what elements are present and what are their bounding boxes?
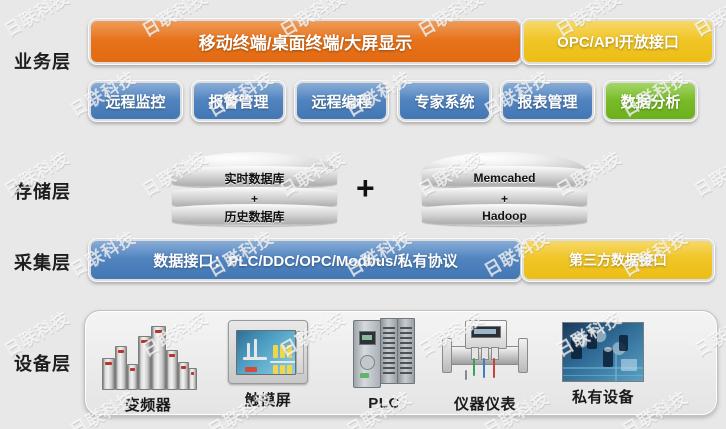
db-left-top-label: 实时数据库 bbox=[224, 170, 284, 187]
device-item-vfd[interactable]: 变频器 bbox=[92, 316, 204, 415]
storage-plus-operator: + bbox=[356, 172, 375, 204]
business-alarm-management-box[interactable]: 报警管理 bbox=[191, 80, 286, 122]
watermark-text: 日联科技 bbox=[0, 64, 1, 122]
collect-data-interface-box[interactable]: 数据接口：PLC/DDC/OPC/Modbus/私有协议 bbox=[88, 238, 523, 282]
db-right-band-top: Memcahed bbox=[422, 166, 587, 188]
device-item-plc[interactable]: PLC bbox=[336, 318, 432, 412]
device-item-hmi[interactable]: 触摸屏 bbox=[214, 320, 322, 410]
business-remote-programming-box[interactable]: 远程编程 bbox=[294, 80, 389, 122]
business-expert-system-box[interactable]: 专家系统 bbox=[397, 80, 492, 122]
db-right-top-label: Memcahed bbox=[473, 171, 535, 185]
business-report-management-label: 报表管理 bbox=[517, 91, 577, 112]
db-left-band-top: 实时数据库 bbox=[172, 166, 337, 188]
device-item-plc-label: PLC bbox=[336, 395, 432, 412]
watermark-text: 日联科技 bbox=[689, 144, 726, 202]
circuit-board-icon bbox=[562, 322, 644, 382]
flow-meter-icon bbox=[439, 320, 531, 390]
business-opc-api-label: OPC/API开放接口 bbox=[557, 31, 679, 52]
device-item-private[interactable]: 私有设备 bbox=[546, 322, 660, 407]
business-opc-api-box[interactable]: OPC/API开放接口 bbox=[521, 18, 715, 65]
business-data-analysis-label: 数据分析 bbox=[620, 91, 680, 112]
business-remote-monitor-label: 远程监控 bbox=[105, 91, 165, 112]
business-report-management-box[interactable]: 报表管理 bbox=[500, 80, 595, 122]
device-item-vfd-label: 变频器 bbox=[92, 394, 204, 415]
collect-third-party-interface-box[interactable]: 第三方数据接口 bbox=[521, 238, 715, 282]
database-cylinder-realtime-history[interactable]: 实时数据库 + 历史数据库 bbox=[172, 152, 337, 226]
collect-data-interface-label: 数据接口：PLC/DDC/OPC/Modbus/私有协议 bbox=[153, 250, 457, 271]
layer-label-device: 设备层 bbox=[14, 350, 71, 376]
business-terminal-display-box[interactable]: 移动终端/桌面终端/大屏显示 bbox=[88, 18, 523, 65]
watermark-text: 日联科技 bbox=[0, 0, 73, 41]
plc-controller-icon bbox=[353, 318, 415, 390]
db-left-bottom-label: 历史数据库 bbox=[224, 208, 284, 225]
business-remote-monitor-box[interactable]: 远程监控 bbox=[88, 80, 183, 122]
device-item-instrument[interactable]: 仪器仪表 bbox=[432, 320, 538, 414]
device-item-instrument-label: 仪器仪表 bbox=[432, 393, 538, 414]
db-right-bottom-label: Hadoop bbox=[482, 209, 527, 223]
variable-frequency-drive-icon bbox=[100, 316, 196, 390]
touch-panel-icon bbox=[228, 320, 308, 384]
business-expert-system-label: 专家系统 bbox=[414, 91, 474, 112]
business-remote-programming-label: 远程编程 bbox=[311, 91, 371, 112]
device-item-hmi-label: 触摸屏 bbox=[214, 389, 322, 410]
db-right-band-bottom: Hadoop bbox=[422, 204, 587, 226]
layer-label-collect: 采集层 bbox=[14, 249, 71, 275]
architecture-diagram: 业务层 存储层 采集层 设备层 移动终端/桌面终端/大屏显示 OPC/API开放… bbox=[0, 0, 726, 429]
watermark-text: 日联科技 bbox=[0, 224, 1, 282]
business-alarm-management-label: 报警管理 bbox=[208, 91, 268, 112]
layer-label-storage: 存储层 bbox=[14, 178, 71, 204]
business-terminal-display-label: 移动终端/桌面终端/大屏显示 bbox=[199, 29, 412, 54]
collect-third-party-interface-label: 第三方数据接口 bbox=[569, 250, 667, 270]
layer-label-business: 业务层 bbox=[14, 48, 71, 74]
db-left-band-bottom: 历史数据库 bbox=[172, 204, 337, 226]
database-cylinder-memcached-hadoop[interactable]: Memcahed + Hadoop bbox=[422, 152, 587, 226]
watermark-text: 日联科技 bbox=[0, 384, 1, 429]
business-data-analysis-box[interactable]: 数据分析 bbox=[603, 80, 698, 122]
device-item-private-label: 私有设备 bbox=[546, 386, 660, 407]
